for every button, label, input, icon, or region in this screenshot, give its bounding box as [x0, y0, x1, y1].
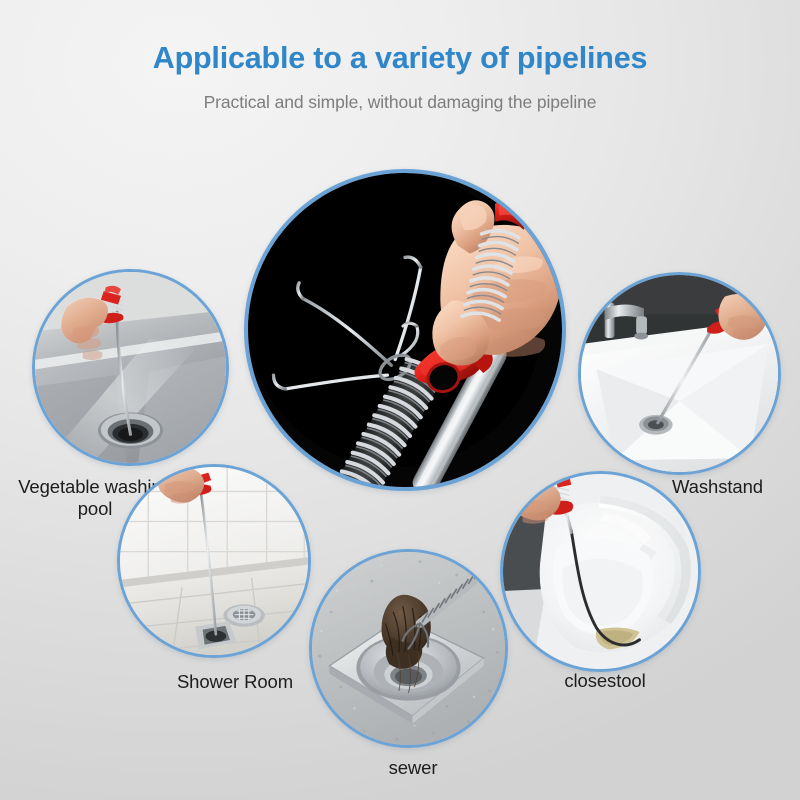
- scene-white-ceramic-basin-with-faucet: [581, 275, 778, 472]
- photo-circle-sewer: [309, 549, 508, 748]
- page-subtitle: Practical and simple, without damaging t…: [0, 92, 800, 113]
- caption-shower-room: Shower Room: [140, 671, 330, 693]
- photo-circle-vegetable-washing-pool: [32, 269, 229, 466]
- photo-circle-product-closeup: [244, 169, 566, 491]
- caption-sewer: sewer: [318, 757, 508, 779]
- scene-stainless-steel-kitchen-sink: [35, 272, 226, 463]
- photo-circle-closestool: [500, 471, 701, 672]
- photo-circle-shower-room: [117, 464, 311, 658]
- scene-tiled-shower-floor-drain: [120, 467, 308, 655]
- product-infographic: Applicable to a variety of pipelines Pra…: [0, 0, 800, 800]
- header-block: Applicable to a variety of pipelines Pra…: [0, 42, 800, 113]
- caption-closestool: closestool: [510, 670, 700, 692]
- scene-product-closeup-on-black: [248, 173, 562, 487]
- photo-circle-washstand: [578, 272, 781, 475]
- page-title: Applicable to a variety of pipelines: [0, 42, 800, 76]
- scene-white-toilet-bowl: [503, 474, 698, 669]
- scene-square-floor-drain-with-hair-clog: [312, 552, 505, 745]
